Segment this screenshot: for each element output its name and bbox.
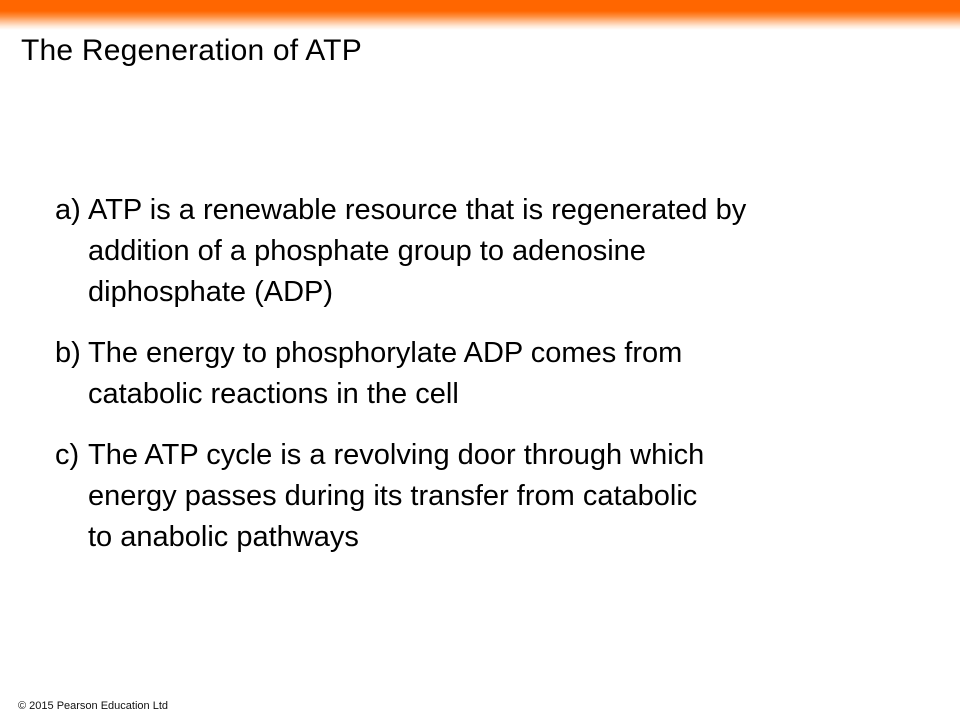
list-item-line: to anabolic pathways: [88, 517, 915, 558]
list-item-line: energy passes during its transfer from c…: [88, 476, 915, 517]
list-item: a) ATP is a renewable resource that is r…: [55, 190, 915, 313]
list-item-text-b: The energy to phosphorylate ADP comes fr…: [88, 333, 915, 415]
list-item-line: catabolic reactions in the cell: [88, 374, 915, 415]
list-item: b) The energy to phosphorylate ADP comes…: [55, 333, 915, 415]
list-item-line: The energy to phosphorylate ADP comes fr…: [88, 333, 915, 374]
list-item-line: addition of a phosphate group to adenosi…: [88, 231, 915, 272]
presentation-slide: The Regeneration of ATP a) ATP is a rene…: [0, 0, 960, 720]
list-item-text-c: The ATP cycle is a revolving door throug…: [88, 435, 915, 558]
list-item: c) The ATP cycle is a revolving door thr…: [55, 435, 915, 558]
copyright-notice: © 2015 Pearson Education Ltd: [18, 699, 168, 713]
list-item-line: The ATP cycle is a revolving door throug…: [88, 435, 915, 476]
list-item-marker-c: c): [55, 435, 88, 476]
list-item-line: ATP is a renewable resource that is rege…: [88, 190, 915, 231]
orange-gradient-banner: [0, 0, 960, 30]
list-item-text-a: ATP is a renewable resource that is rege…: [88, 190, 915, 313]
page-title: The Regeneration of ATP: [21, 33, 921, 69]
banner-fade-gradient: [0, 11, 960, 30]
bullet-list: a) ATP is a renewable resource that is r…: [55, 190, 915, 558]
banner-solid-bar: [0, 0, 960, 11]
list-item-line: diphosphate (ADP): [88, 272, 915, 313]
list-item-marker-a: a): [55, 190, 88, 231]
list-item-marker-b: b): [55, 333, 88, 374]
